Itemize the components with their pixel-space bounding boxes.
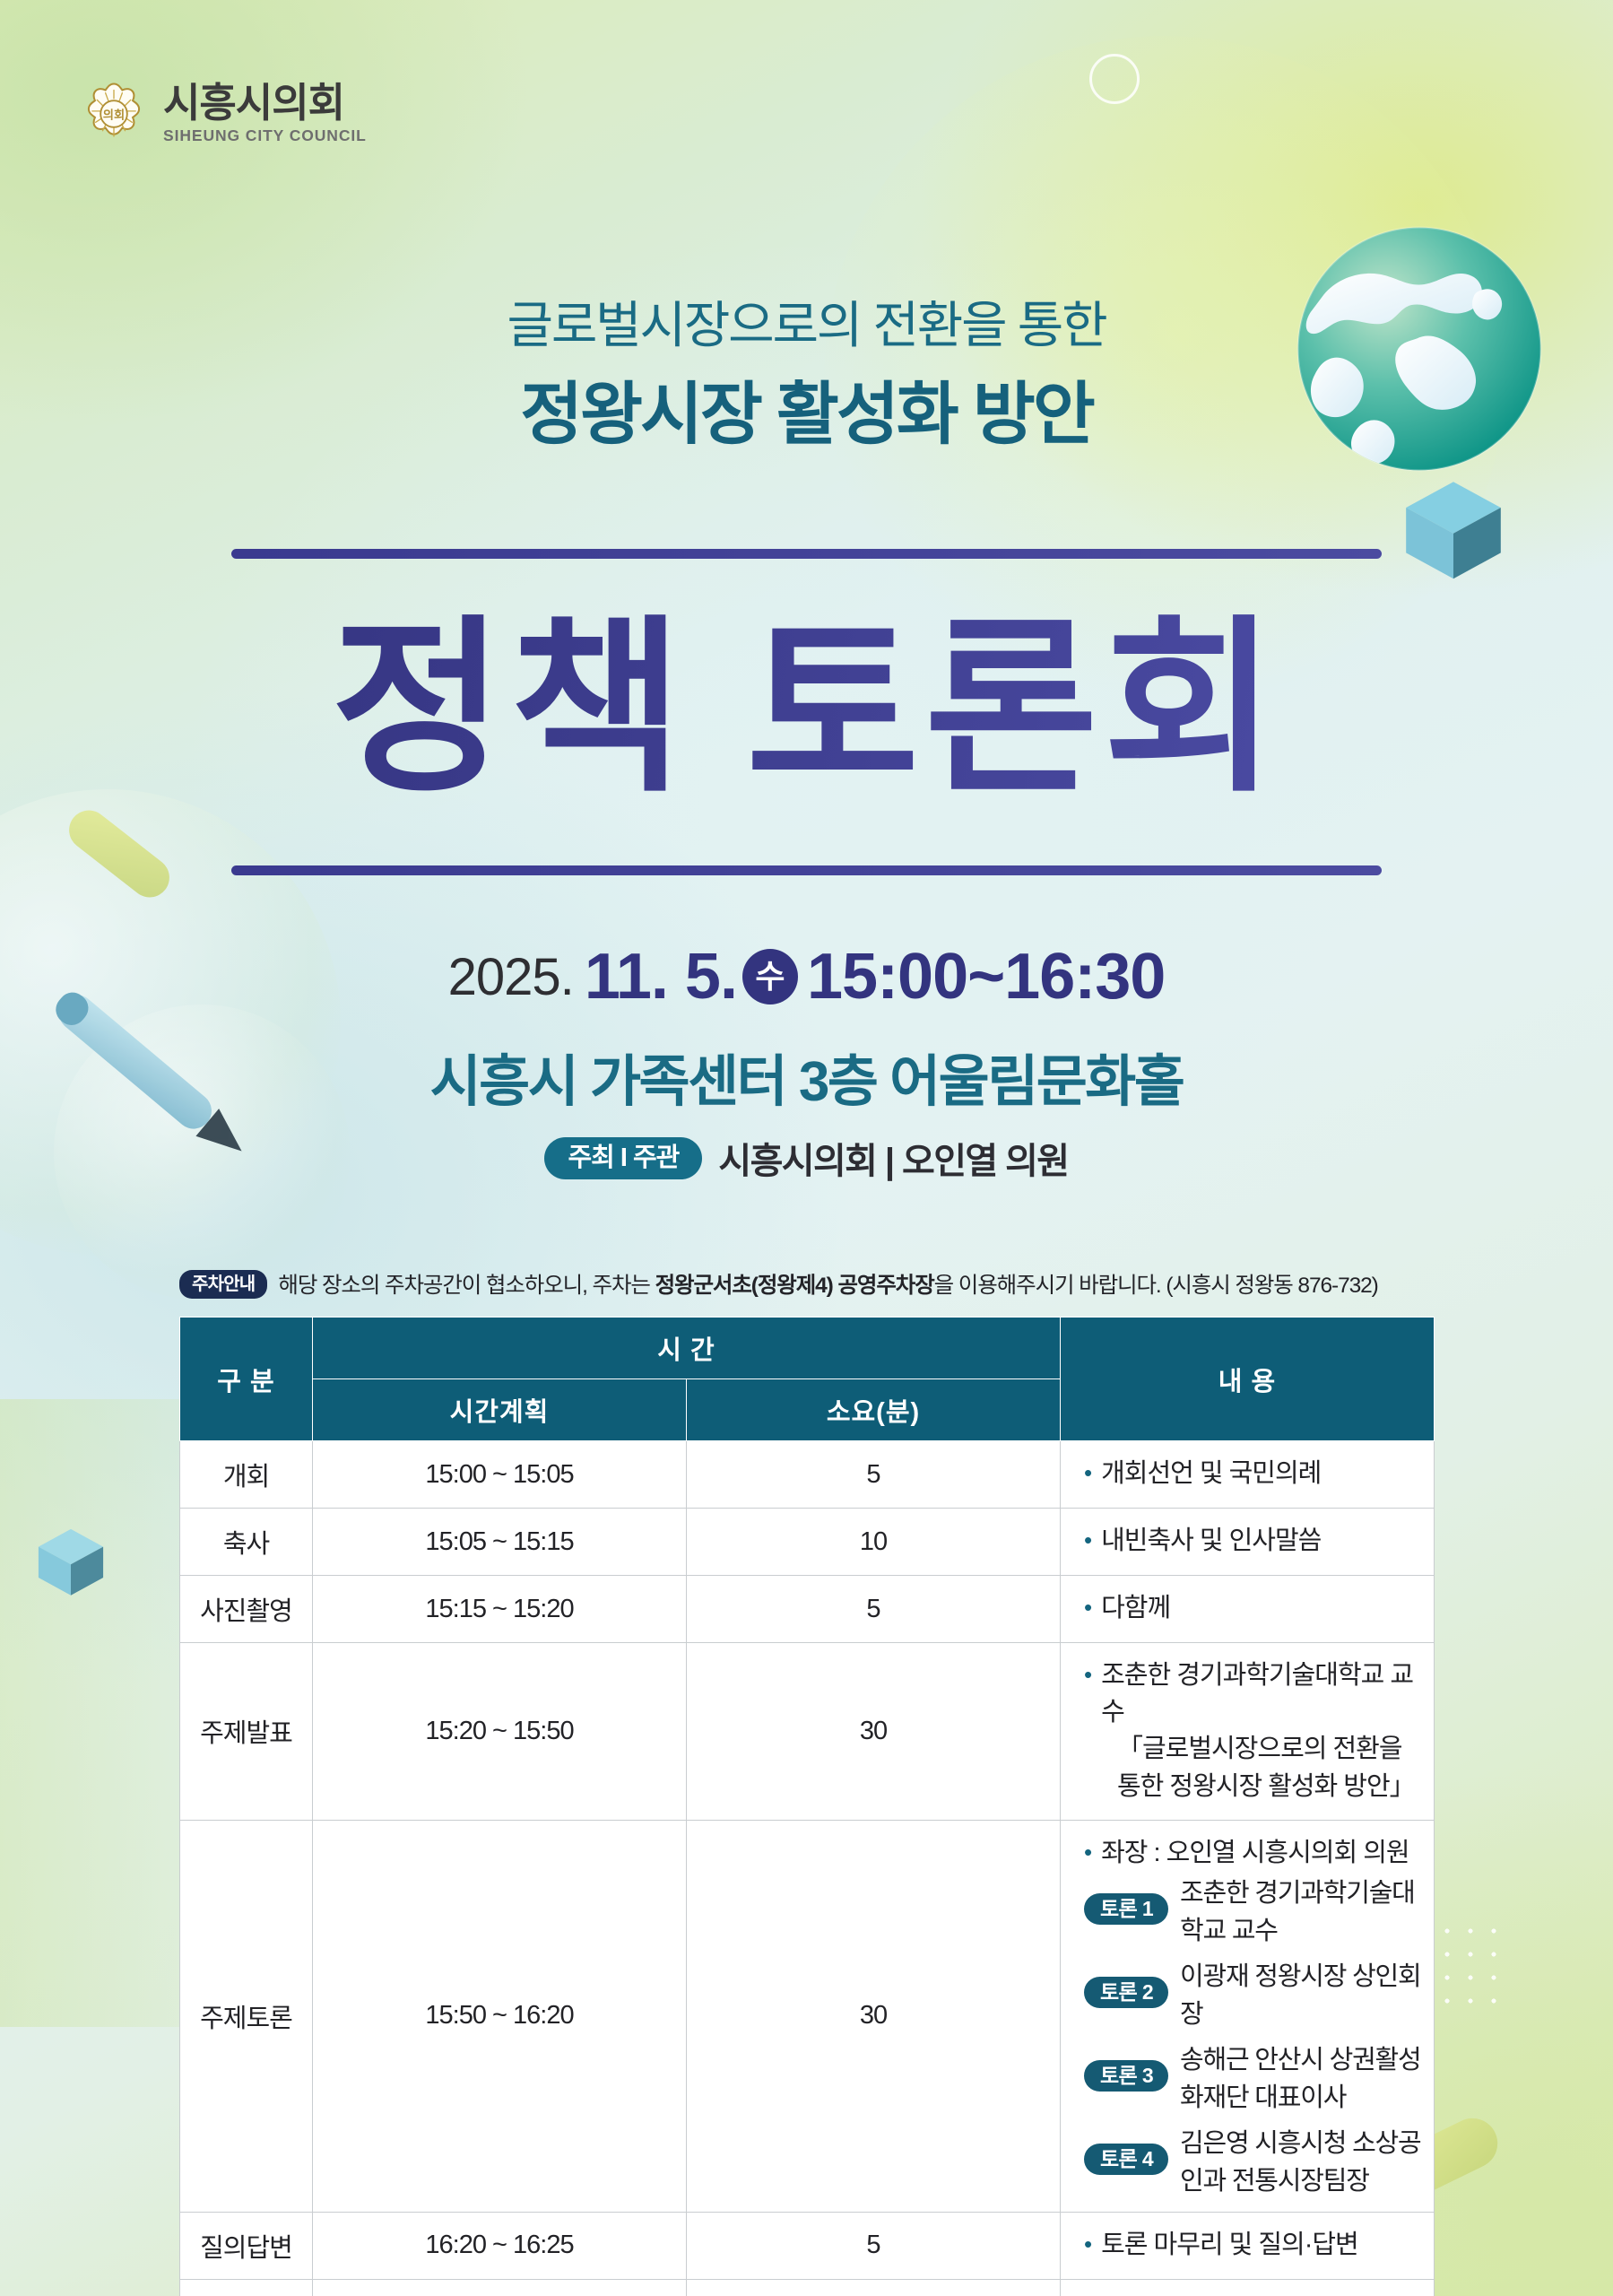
cell-duration: 5 (687, 2279, 1061, 2296)
content-bullet: •다함께 (1084, 1590, 1427, 1627)
cube-icon (34, 1525, 108, 1598)
siheung-council-emblem-icon: 의회 (79, 79, 149, 149)
content-bullet: •조춘한 경기과학기술대학교 교수 (1084, 1657, 1427, 1731)
panelist-row: 토론 2이광재 정왕시장 상인회장 (1084, 1955, 1427, 2031)
brand-name-ko: 시흥시의회 (163, 83, 367, 124)
table-body: 개회15:00 ~ 15:055•개회선언 및 국민의례축사15:05 ~ 15… (180, 1441, 1435, 2296)
brand-logo: 의회 시흥시의회 SIHEUNG CITY COUNCIL (79, 79, 367, 149)
header-content: 내 용 (1061, 1318, 1435, 1441)
cell-division: 질의답변 (180, 2212, 313, 2279)
weekday-badge: 수 (742, 949, 798, 1004)
bullet-dot-icon: • (1084, 1835, 1091, 1870)
event-datetime: 2025. 11. 5. 수 15:00~16:30 (0, 940, 1613, 1013)
content-bullet: •좌장 : 오인열 시흥시의회 의원 (1084, 1835, 1427, 1872)
circle-outline-icon (1089, 54, 1140, 104)
cell-content: •마무리 말씀•폐회 (1061, 2279, 1435, 2296)
panelist-name: 송해근 안산시 상권활성화재단 대표이사 (1180, 2039, 1427, 2114)
cell-time: 15:00 ~ 15:05 (313, 1441, 687, 1509)
cell-time: 15:50 ~ 16:20 (313, 1820, 687, 2212)
parking-notice: 주차안내 해당 장소의 주차공간이 협소하오니, 주차는 정왕군서초(정왕제4)… (179, 1268, 1434, 1300)
content-subline: 「글로벌시장으로의 전환을 통한 정왕시장 활성화 방안」 (1084, 1731, 1427, 1805)
event-year: 2025. (448, 947, 574, 1007)
cell-division: 축사 (180, 1509, 313, 1576)
panelist-name: 조춘한 경기과학기술대학교 교수 (1180, 1872, 1427, 1947)
event-venue: 시흥시 가족센터 3층 어울림문화홀 (0, 1036, 1613, 1117)
cell-division: 주제토론 (180, 1820, 313, 2212)
cell-time: 15:20 ~ 15:50 (313, 1643, 687, 1821)
hero-headline: 정책 토론회 (0, 565, 1613, 851)
event-time-range: 15:00~16:30 (807, 940, 1165, 1013)
parking-text-before: 해당 장소의 주차공간이 협소하오니, 주차는 (278, 1274, 655, 1298)
bullet-text: 개회선언 및 국민의례 (1101, 1456, 1321, 1492)
panelist-badge: 토론 2 (1084, 1977, 1168, 2008)
cell-time: 15:15 ~ 15:20 (313, 1576, 687, 1643)
panelist-badge: 토론 1 (1084, 1893, 1168, 1925)
program-table: 구 분 시 간 내 용 시간계획 소요(분) 개회15:00 ~ 15:055•… (179, 1317, 1435, 2296)
panelist-badge: 토론 4 (1084, 2144, 1168, 2175)
header-time-plan: 시간계획 (313, 1379, 687, 1441)
background-blob-left (0, 789, 341, 1256)
cell-time: 16:20 ~ 16:25 (313, 2212, 687, 2279)
content-bullet: •내빈축사 및 인사말씀 (1084, 1523, 1427, 1560)
bullet-dot-icon: • (1084, 1590, 1091, 1625)
bullet-text: 토론 마무리 및 질의·답변 (1101, 2227, 1358, 2264)
table-row: 축사15:05 ~ 15:1510•내빈축사 및 인사말씀 (180, 1509, 1435, 1576)
parking-text-after: 을 이용해주시기 바랍니다. (시흥시 정왕동 876-732) (934, 1274, 1378, 1298)
content-bullet: •개회선언 및 국민의례 (1084, 1456, 1427, 1492)
bullet-text: 다함께 (1101, 1590, 1170, 1627)
cell-duration: 30 (687, 1643, 1061, 1821)
cell-time: 15:05 ~ 15:15 (313, 1509, 687, 1576)
cell-division: 개회 (180, 1441, 313, 1509)
bullet-text: 내빈축사 및 인사말씀 (1101, 1523, 1321, 1560)
table-row: 주제토론15:50 ~ 16:2030•좌장 : 오인열 시흥시의회 의원토론 … (180, 1820, 1435, 2212)
cell-content: •다함께 (1061, 1576, 1435, 1643)
cell-division: 주제발표 (180, 1643, 313, 1821)
bullet-dot-icon: • (1084, 1456, 1091, 1491)
cell-division: 폐회 (180, 2279, 313, 2296)
table-header-row-1: 구 분 시 간 내 용 (180, 1318, 1435, 1379)
hero-subtitle: 글로벌시장으로의 전환을 통한 (0, 285, 1613, 358)
brand-name-en: SIHEUNG CITY COUNCIL (163, 126, 367, 145)
cell-division: 사진촬영 (180, 1576, 313, 1643)
cell-content: •조춘한 경기과학기술대학교 교수「글로벌시장으로의 전환을 통한 정왕시장 활… (1061, 1643, 1435, 1821)
divider-top (231, 549, 1382, 559)
header-duration: 소요(분) (687, 1379, 1061, 1441)
bullet-text: 좌장 : 오인열 시흥시의회 의원 (1101, 1835, 1409, 1872)
table-row: 개회15:00 ~ 15:055•개회선언 및 국민의례 (180, 1441, 1435, 1509)
divider-bottom (231, 865, 1382, 875)
cell-content: •개회선언 및 국민의례 (1061, 1441, 1435, 1509)
bullet-text: 조춘한 경기과학기술대학교 교수 (1101, 1657, 1427, 1731)
panelist-list: 토론 1조춘한 경기과학기술대학교 교수토론 2이광재 정왕시장 상인회장토론 … (1084, 1872, 1427, 2197)
cell-time: 16:25 ~ 16:30 (313, 2279, 687, 2296)
host-line: 주최 I 주관 시흥시의회 | 오인열 의원 (0, 1132, 1613, 1184)
panelist-name: 이광재 정왕시장 상인회장 (1180, 1955, 1427, 2031)
host-badge: 주최 I 주관 (544, 1137, 702, 1179)
panelist-row: 토론 4김은영 시흥시청 소상공인과 전통시장팀장 (1084, 2122, 1427, 2197)
bullet-dot-icon: • (1084, 1657, 1091, 1692)
cell-content: •좌장 : 오인열 시흥시의회 의원토론 1조춘한 경기과학기술대학교 교수토론… (1061, 1820, 1435, 2212)
event-month-day: 11. 5. (585, 940, 737, 1013)
bullet-dot-icon: • (1084, 2227, 1091, 2262)
cell-content: •내빈축사 및 인사말씀 (1061, 1509, 1435, 1576)
parking-text-highlight: 정왕군서초(정왕제4) 공영주차장 (655, 1274, 934, 1298)
table-row: 주제발표15:20 ~ 15:5030•조춘한 경기과학기술대학교 교수「글로벌… (180, 1643, 1435, 1821)
cell-duration: 5 (687, 2212, 1061, 2279)
panelist-row: 토론 3송해근 안산시 상권활성화재단 대표이사 (1084, 2039, 1427, 2114)
cell-duration: 10 (687, 1509, 1061, 1576)
header-time-group: 시 간 (313, 1318, 1061, 1379)
bullet-dot-icon: • (1084, 1523, 1091, 1558)
panelist-row: 토론 1조춘한 경기과학기술대학교 교수 (1084, 1872, 1427, 1947)
cell-content: •토론 마무리 및 질의·답변 (1061, 2212, 1435, 2279)
parking-text: 해당 장소의 주차공간이 협소하오니, 주차는 정왕군서초(정왕제4) 공영주차… (278, 1268, 1377, 1300)
cell-duration: 30 (687, 1820, 1061, 2212)
table-head: 구 분 시 간 내 용 시간계획 소요(분) (180, 1318, 1435, 1441)
table-row: 사진촬영15:15 ~ 15:205•다함께 (180, 1576, 1435, 1643)
parking-badge: 주차안내 (179, 1270, 267, 1299)
cell-duration: 5 (687, 1576, 1061, 1643)
panelist-name: 김은영 시흥시청 소상공인과 전통시장팀장 (1180, 2122, 1427, 2197)
host-organizations: 시흥시의회 | 오인열 의원 (718, 1132, 1068, 1184)
cell-duration: 5 (687, 1441, 1061, 1509)
content-bullet: •토론 마무리 및 질의·답변 (1084, 2227, 1427, 2264)
panelist-badge: 토론 3 (1084, 2060, 1168, 2092)
program-table-wrapper: 구 분 시 간 내 용 시간계획 소요(분) 개회15:00 ~ 15:055•… (179, 1317, 1435, 2296)
table-row: 질의답변16:20 ~ 16:255•토론 마무리 및 질의·답변 (180, 2212, 1435, 2279)
hero-title: 정왕시장 활성화 방안 (0, 359, 1613, 457)
emblem-text: 의회 (103, 107, 125, 121)
poster-canvas: 의회 시흥시의회 SIHEUNG CITY COUNCIL 글로벌시장으로의 전… (0, 0, 1613, 2296)
header-division: 구 분 (180, 1318, 313, 1441)
table-row: 폐회16:25 ~ 16:305•마무리 말씀•폐회 (180, 2279, 1435, 2296)
